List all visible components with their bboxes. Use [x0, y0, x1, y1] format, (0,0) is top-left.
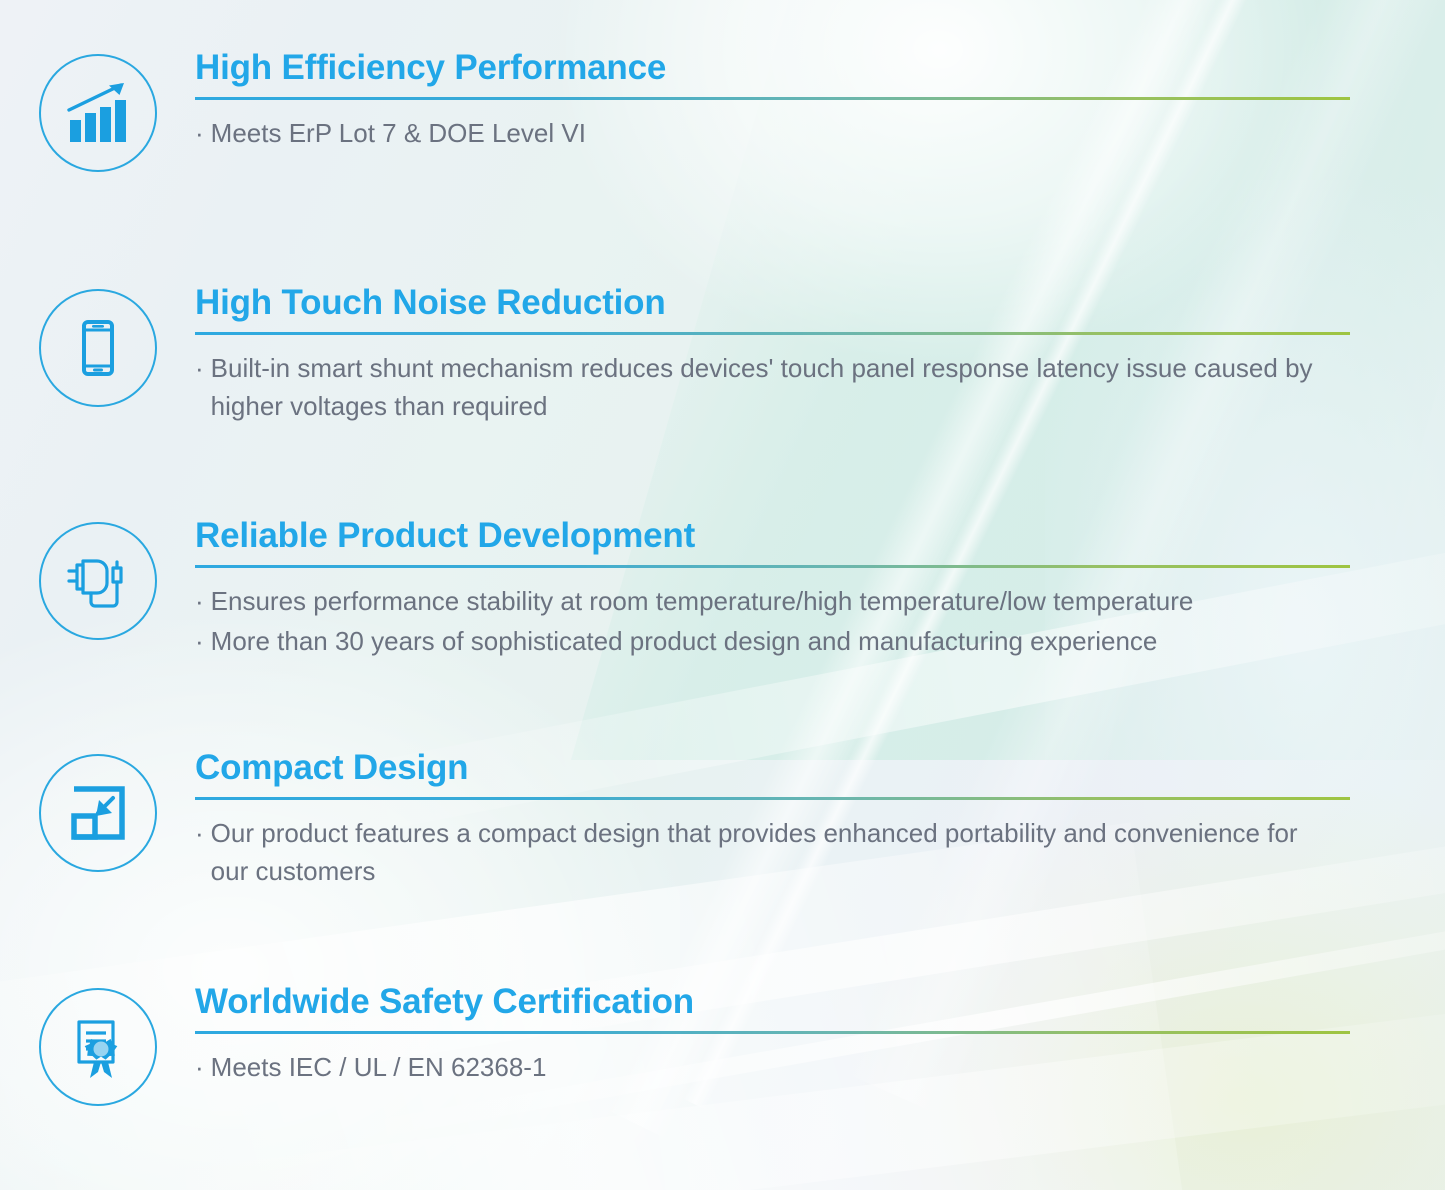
feature-divider: [195, 1031, 1350, 1034]
feature-list: High Efficiency Performance · Meets ErP …: [0, 0, 1445, 1190]
feature-bullet: · More than 30 years of sophisticated pr…: [195, 622, 1365, 660]
feature-text-block: Compact Design · Our product features a …: [195, 750, 1445, 893]
feature-bullet-list: · Meets ErP Lot 7 & DOE Level VI: [195, 114, 1365, 152]
bullet-marker: ·: [195, 349, 204, 387]
bullet-text: More than 30 years of sophisticated prod…: [211, 622, 1158, 660]
feature-text-block: Reliable Product Development · Ensures p…: [195, 518, 1445, 663]
feature-bullet: · Built-in smart shunt mechanism reduces…: [195, 349, 1365, 426]
feature-title: Compact Design: [195, 750, 1365, 787]
feature-title: High Efficiency Performance: [195, 50, 1365, 87]
feature-bullet: · Our product features a compact design …: [195, 814, 1365, 891]
feature-icon-container: [0, 750, 195, 872]
feature-text-block: High Touch Noise Reduction · Built-in sm…: [195, 285, 1445, 428]
bullet-text: Meets IEC / UL / EN 62368-1: [211, 1048, 547, 1086]
bullet-text: Built-in smart shunt mechanism reduces d…: [211, 349, 1356, 426]
bar-chart-growth-icon: [39, 54, 157, 172]
feature-item-worldwide-safety-certification: Worldwide Safety Certification · Meets I…: [0, 984, 1445, 1106]
feature-highlights-page: High Efficiency Performance · Meets ErP …: [0, 0, 1445, 1190]
smartphone-icon: [39, 289, 157, 407]
feature-text-block: Worldwide Safety Certification · Meets I…: [195, 984, 1445, 1088]
feature-icon-container: [0, 518, 195, 640]
feature-item-high-efficiency-performance: High Efficiency Performance · Meets ErP …: [0, 50, 1445, 172]
bullet-marker: ·: [195, 582, 204, 620]
feature-bullet: · Meets ErP Lot 7 & DOE Level VI: [195, 114, 1365, 152]
feature-item-reliable-product-development: Reliable Product Development · Ensures p…: [0, 518, 1445, 663]
bullet-text: Our product features a compact design th…: [211, 814, 1301, 891]
feature-icon-container: [0, 984, 195, 1106]
certificate-award-icon: [39, 988, 157, 1106]
feature-divider: [195, 97, 1350, 100]
bullet-text: Ensures performance stability at room te…: [211, 582, 1194, 620]
feature-title: High Touch Noise Reduction: [195, 285, 1365, 322]
feature-icon-container: [0, 50, 195, 172]
feature-bullet: · Meets IEC / UL / EN 62368-1: [195, 1048, 1365, 1086]
bullet-marker: ·: [195, 814, 204, 852]
feature-item-high-touch-noise-reduction: High Touch Noise Reduction · Built-in sm…: [0, 285, 1445, 428]
feature-bullet-list: · Our product features a compact design …: [195, 814, 1365, 891]
feature-bullet-list: · Ensures performance stability at room …: [195, 582, 1365, 661]
feature-text-block: High Efficiency Performance · Meets ErP …: [195, 50, 1445, 154]
compact-resize-icon: [39, 754, 157, 872]
feature-item-compact-design: Compact Design · Our product features a …: [0, 750, 1445, 893]
feature-divider: [195, 797, 1350, 800]
bullet-marker: ·: [195, 622, 204, 660]
feature-bullet: · Ensures performance stability at room …: [195, 582, 1365, 620]
bullet-marker: ·: [195, 1048, 204, 1086]
bullet-text: Meets ErP Lot 7 & DOE Level VI: [211, 114, 586, 152]
power-adapter-icon: [39, 522, 157, 640]
feature-icon-container: [0, 285, 195, 407]
feature-divider: [195, 565, 1350, 568]
feature-bullet-list: · Meets IEC / UL / EN 62368-1: [195, 1048, 1365, 1086]
feature-bullet-list: · Built-in smart shunt mechanism reduces…: [195, 349, 1365, 426]
feature-title: Reliable Product Development: [195, 518, 1365, 555]
feature-divider: [195, 332, 1350, 335]
bullet-marker: ·: [195, 114, 204, 152]
feature-title: Worldwide Safety Certification: [195, 984, 1365, 1021]
